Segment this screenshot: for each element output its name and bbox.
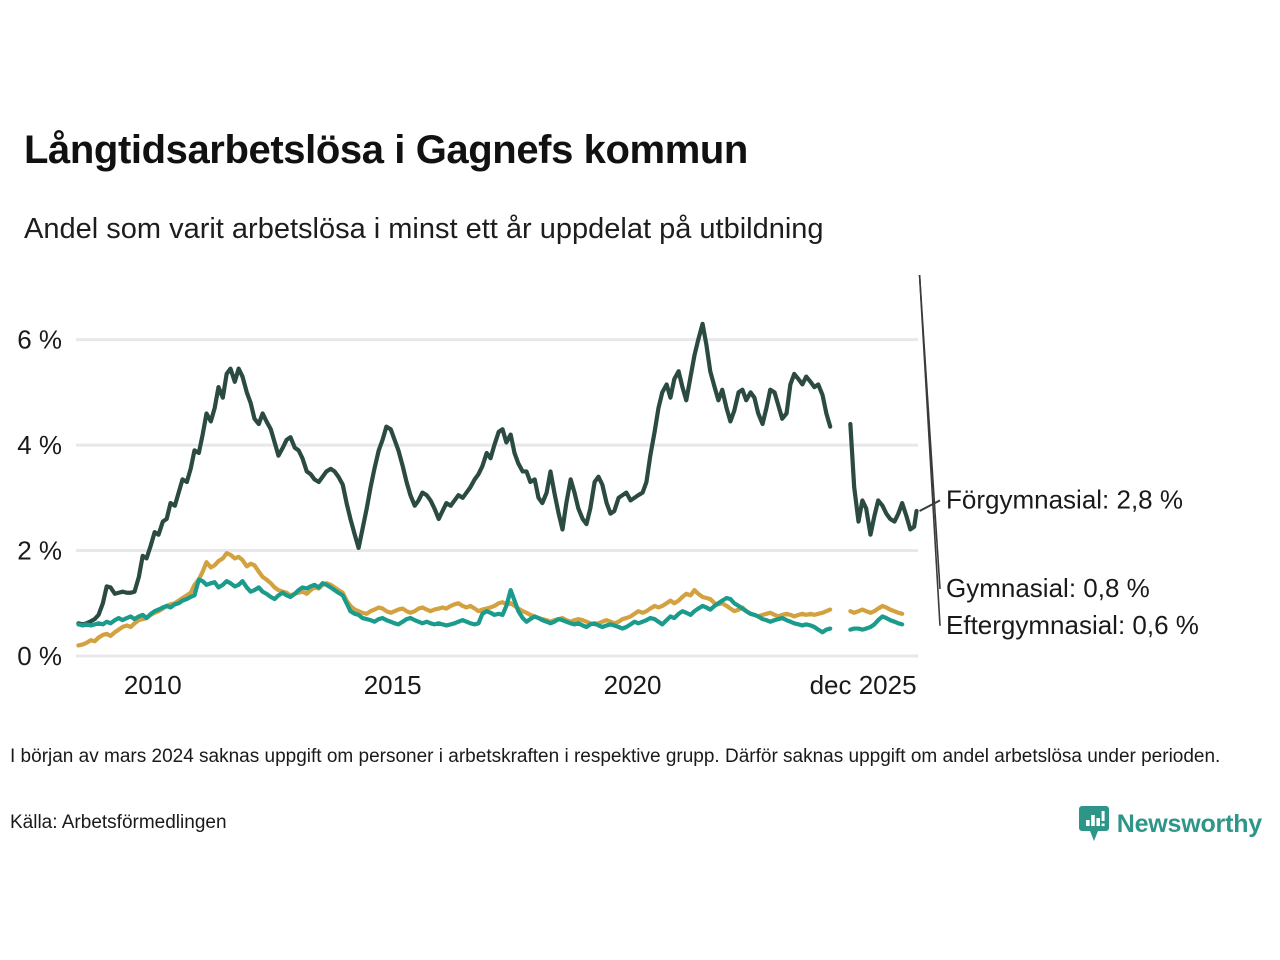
newsworthy-logo: Newsworthy [1079, 805, 1262, 843]
chart-footnote: I början av mars 2024 saknas uppgift om … [10, 745, 1240, 768]
chart-series-labels: Förgymnasial: 2,8 %Gymnasial: 0,8 %Efter… [946, 484, 1199, 639]
brand-name: Newsworthy [1117, 810, 1262, 839]
x-axis-tick-label: 2010 [124, 670, 182, 695]
chart-plot-area: 0 %2 %4 %6 % Förgymnasial: 2,8 %Gymnasia… [0, 275, 1280, 695]
bar-chart-pin-icon [1079, 805, 1109, 843]
x-axis-tick-label: dec 2025 [810, 670, 917, 695]
y-axis-tick-label: 0 % [17, 641, 62, 671]
line-chart: 0 %2 %4 %6 % Förgymnasial: 2,8 %Gymnasia… [0, 275, 1280, 695]
chart-y-axis-labels: 0 %2 %4 %6 % [17, 325, 62, 671]
chart-x-axis-labels: 201020152020dec 2025 [124, 670, 917, 695]
x-axis-tick-label: 2015 [364, 670, 422, 695]
series-line-förgymnasial [78, 324, 830, 625]
series-line-gymnasial [850, 606, 902, 614]
x-axis-tick-label: 2020 [604, 670, 662, 695]
y-axis-tick-label: 2 % [17, 536, 62, 566]
series-line-förgymnasial [850, 424, 916, 535]
chart-legend-leader-lines [920, 275, 940, 626]
series-line-gymnasial [78, 553, 830, 645]
page-subtitle: Andel som varit arbetslösa i minst ett å… [24, 213, 824, 246]
chart-page: Långtidsarbetslösa i Gagnefs kommun Ande… [0, 0, 1280, 960]
chart-source: Källa: Arbetsförmedlingen [10, 812, 227, 834]
series-label-gymnasial: Gymnasial: 0,8 % [946, 573, 1150, 603]
y-axis-tick-label: 4 % [17, 430, 62, 460]
legend-leader-line [920, 500, 940, 511]
legend-leader-line [920, 275, 940, 626]
chart-series-lines [78, 324, 916, 646]
series-line-eftergymnasial [850, 616, 902, 629]
y-axis-tick-label: 6 % [17, 325, 62, 355]
page-title: Långtidsarbetslösa i Gagnefs kommun [24, 128, 748, 173]
series-label-förgymnasial: Förgymnasial: 2,8 % [946, 484, 1183, 514]
series-label-eftergymnasial: Eftergymnasial: 0,6 % [946, 610, 1199, 640]
